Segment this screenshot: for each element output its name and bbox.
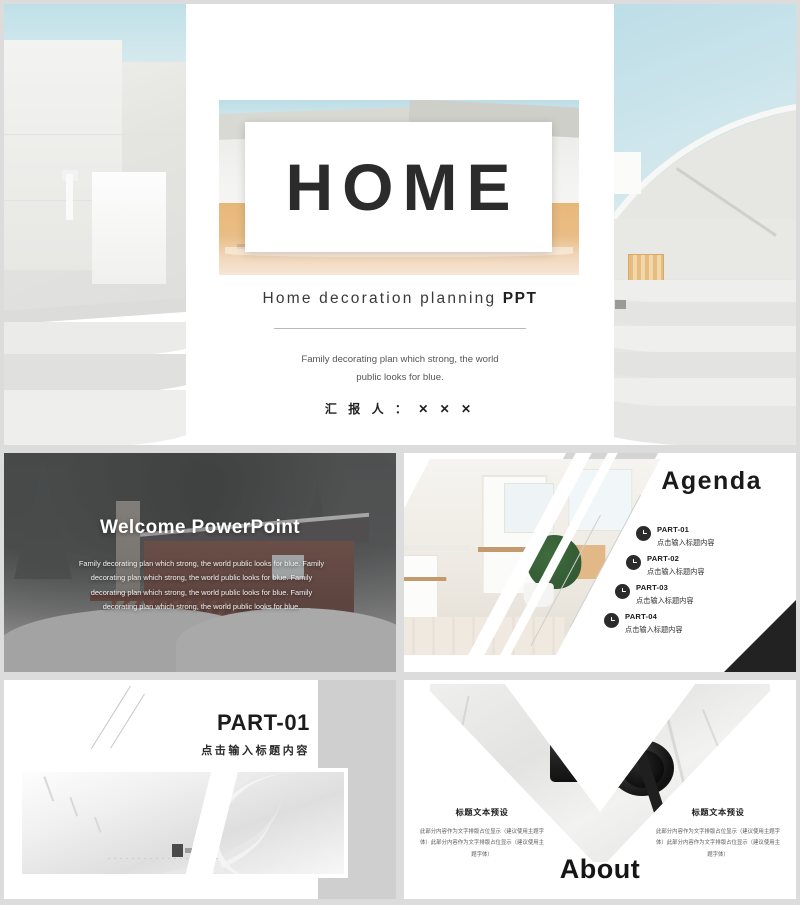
title-description-line1: Family decorating plan which strong, the… [226, 351, 574, 369]
agenda-list: PART-01 点击输入标题内容 PART-02 点击输入标题内容 PART-0… [604, 519, 794, 635]
list-item[interactable]: PART-03 点击输入标题内容 [615, 577, 794, 606]
title-description-line2: public looks for blue. [226, 369, 574, 387]
clock-icon [626, 555, 641, 570]
about-title: About [404, 854, 796, 885]
agenda-item-label: PART-02 [647, 554, 679, 563]
list-item[interactable]: PART-01 点击输入标题内容 [636, 519, 794, 548]
slide-row-3: PART-01 点击输入标题内容 标题文本预设 此部分内容作为文字排版占位显示（… [4, 680, 796, 899]
list-item[interactable]: PART-02 点击输入标题内容 [626, 548, 794, 577]
clock-icon [636, 526, 651, 541]
slide-row-2: Welcome PowerPoint Family decorating pla… [4, 453, 796, 672]
title-author: 汇 报 人 ： ✕ ✕ ✕ [186, 400, 614, 417]
subtitle-text: Home decoration planning [263, 290, 503, 307]
agenda-item-text: 点击输入标题内容 [647, 567, 705, 577]
welcome-title: Welcome PowerPoint [4, 517, 396, 539]
agenda-item-label: PART-04 [625, 612, 657, 621]
agenda-item-text: 点击输入标题内容 [657, 538, 715, 548]
about-column-right: 标题文本预设 此部分内容作为文字排版占位显示（建议使用主题字体）此部分内容作为文… [656, 806, 780, 861]
list-item[interactable]: PART-04 点击输入标题内容 [604, 606, 794, 635]
welcome-body: Family decorating plan which strong, the… [74, 557, 329, 615]
agenda-slide[interactable]: Agenda PART-01 点击输入标题内容 PART-02 点击输入标题内容 [404, 453, 796, 672]
about-heading: 标题文本预设 [420, 806, 544, 818]
part-divider-slide[interactable]: PART-01 点击输入标题内容 [4, 680, 396, 899]
slide-deck-preview: HOME Home decoration planning PPT Family… [0, 0, 800, 905]
subtitle-emphasis: PPT [503, 290, 538, 307]
about-column-left: 标题文本预设 此部分内容作为文字排版占位显示（建议使用主题字体）此部分内容作为文… [420, 806, 544, 861]
agenda-item-text: 点击输入标题内容 [625, 625, 683, 635]
agenda-item-label: PART-03 [636, 583, 668, 592]
part-title: PART-01 [4, 710, 310, 736]
headline-card: HOME [245, 122, 552, 252]
title-slide[interactable]: HOME Home decoration planning PPT Family… [4, 4, 796, 445]
agenda-item-text: 点击输入标题内容 [636, 596, 694, 606]
welcome-slide[interactable]: Welcome PowerPoint Family decorating pla… [4, 453, 396, 672]
clock-icon [615, 584, 630, 599]
agenda-item-label: PART-01 [657, 525, 689, 534]
clock-icon [604, 613, 619, 628]
part-subtitle: 点击输入标题内容 [4, 742, 310, 758]
title-description: Family decorating plan which strong, the… [226, 351, 574, 386]
title-subtitle: Home decoration planning PPT [186, 290, 614, 308]
page-title: HOME [278, 154, 520, 220]
title-divider [274, 328, 526, 329]
architecture-photo [22, 772, 344, 874]
about-heading: 标题文本预设 [656, 806, 780, 818]
agenda-title: Agenda [661, 467, 762, 496]
about-slide[interactable]: 标题文本预设 此部分内容作为文字排版占位显示（建议使用主题字体）此部分内容作为文… [404, 680, 796, 899]
